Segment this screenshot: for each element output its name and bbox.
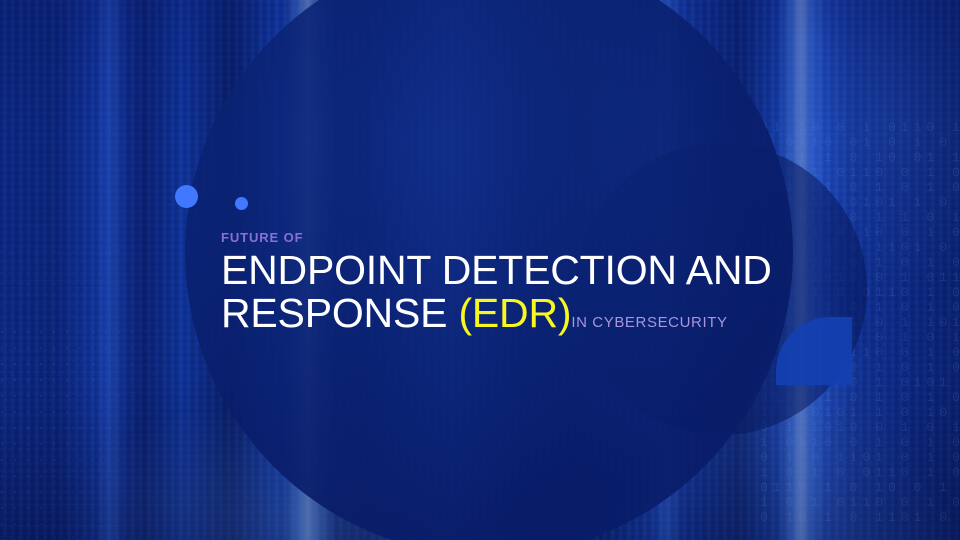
title-slide: 01 10 0 1 0110 1 0 1001 01 1 0110 01 0 1… — [0, 0, 960, 540]
title-text-block: FUTURE OF ENDPOINT DETECTION AND RESPONS… — [221, 229, 841, 344]
headline-line-2-prefix: RESPONSE — [221, 290, 458, 336]
small-accent-dot — [235, 197, 248, 210]
page-title: ENDPOINT DETECTION AND RESPONSE (EDR)IN … — [221, 249, 841, 344]
large-accent-dot — [175, 185, 198, 208]
headline-suffix: IN CYBERSECURITY — [571, 314, 727, 331]
headline-abbreviation: (EDR) — [458, 290, 571, 336]
eyebrow-label: FUTURE OF — [221, 229, 841, 246]
headline-line-1: ENDPOINT DETECTION AND — [221, 247, 772, 293]
